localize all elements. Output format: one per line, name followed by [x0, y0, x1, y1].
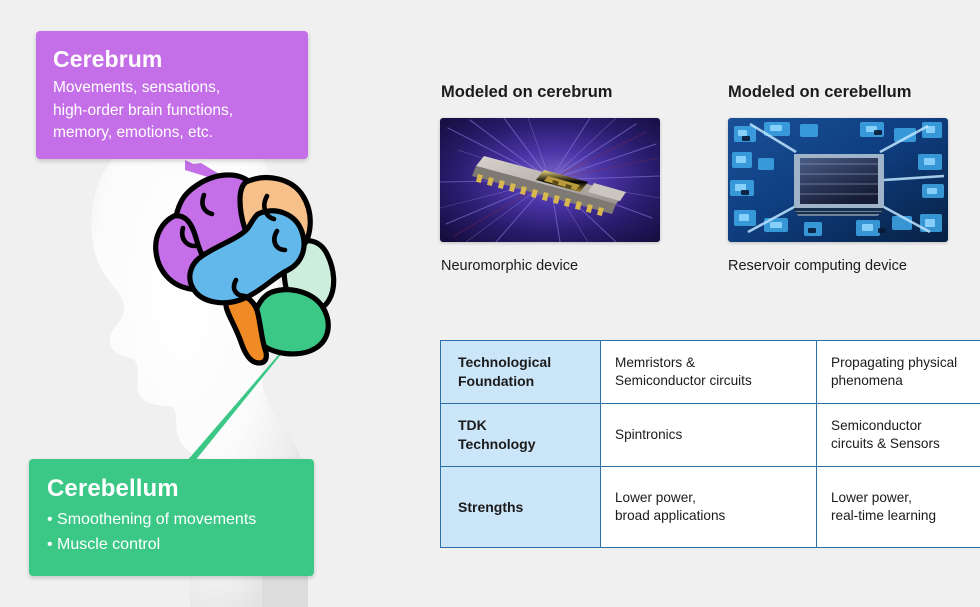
- central-chip-package: [794, 154, 884, 216]
- cerebrum-title: Cerebrum: [53, 45, 290, 74]
- row-header-tdk-technology: TDK Technology: [441, 404, 601, 467]
- cell-line: Spintronics: [615, 426, 804, 444]
- cell-line: Semiconductor: [831, 417, 980, 435]
- cell-line: real-time learning: [831, 507, 980, 525]
- caption-neuromorphic-device: Neuromorphic device: [441, 258, 578, 274]
- brain-illustration-panel: Cerebrum Movements, sensations, high-ord…: [0, 0, 440, 607]
- row-header-strengths: Strengths: [441, 467, 601, 548]
- cell-line: Semiconductor circuits: [615, 372, 804, 390]
- cell-tdk-cerebrum: Spintronics: [601, 404, 817, 467]
- cell-line: Technological: [458, 353, 588, 372]
- caption-reservoir-device: Reservoir computing device: [728, 258, 907, 274]
- table-row: Strengths Lower power, broad application…: [441, 467, 980, 548]
- neuromorphic-chip-photo: [440, 118, 660, 242]
- cerebellum-line-1: • Smoothening of movements: [47, 508, 296, 533]
- row-header-technological-foundation: Technological Foundation: [441, 341, 601, 404]
- cell-line: Lower power,: [831, 489, 980, 507]
- cell-line: circuits & Sensors: [831, 435, 980, 453]
- cerebellum-title: Cerebellum: [47, 474, 296, 504]
- cell-line: TDK: [458, 416, 588, 435]
- cell-line: phenomena: [831, 372, 980, 390]
- cerebellum-callout: Cerebellum • Smoothening of movements • …: [29, 459, 314, 576]
- cell-line: Strengths: [458, 498, 588, 517]
- infographic-canvas: Cerebrum Movements, sensations, high-ord…: [0, 0, 980, 607]
- cell-foundation-cerebellum: Propagating physical phenomena: [817, 341, 980, 404]
- device-heading-cerebellum: Modeled on cerebellum: [728, 83, 911, 102]
- devices-panel: Modeled on cerebrum Modeled on cerebellu…: [440, 0, 980, 607]
- cell-line: broad applications: [615, 507, 804, 525]
- cell-line: Technology: [458, 435, 588, 454]
- cell-line: Memristors &: [615, 354, 804, 372]
- cell-tdk-cerebellum: Semiconductor circuits & Sensors: [817, 404, 980, 467]
- cerebrum-callout: Cerebrum Movements, sensations, high-ord…: [36, 31, 308, 159]
- cell-strengths-cerebrum: Lower power, broad applications: [601, 467, 817, 548]
- table-row: TDK Technology Spintronics Semiconductor…: [441, 404, 980, 467]
- cell-line: Propagating physical: [831, 354, 980, 372]
- cell-strengths-cerebellum: Lower power, real-time learning: [817, 467, 980, 548]
- cerebrum-line-1: Movements, sensations,: [53, 77, 290, 100]
- cerebrum-line-3: memory, emotions, etc.: [53, 122, 290, 145]
- cell-line: Lower power,: [615, 489, 804, 507]
- reservoir-computing-chip-photo: [728, 118, 948, 242]
- cell-foundation-cerebrum: Memristors & Semiconductor circuits: [601, 341, 817, 404]
- device-heading-cerebrum: Modeled on cerebrum: [441, 83, 612, 102]
- comparison-table: Technological Foundation Memristors & Se…: [440, 340, 980, 548]
- cell-line: Foundation: [458, 372, 588, 391]
- cerebellum-line-2: • Muscle control: [47, 533, 296, 558]
- cerebrum-line-2: high-order brain functions,: [53, 100, 290, 123]
- table-row: Technological Foundation Memristors & Se…: [441, 341, 980, 404]
